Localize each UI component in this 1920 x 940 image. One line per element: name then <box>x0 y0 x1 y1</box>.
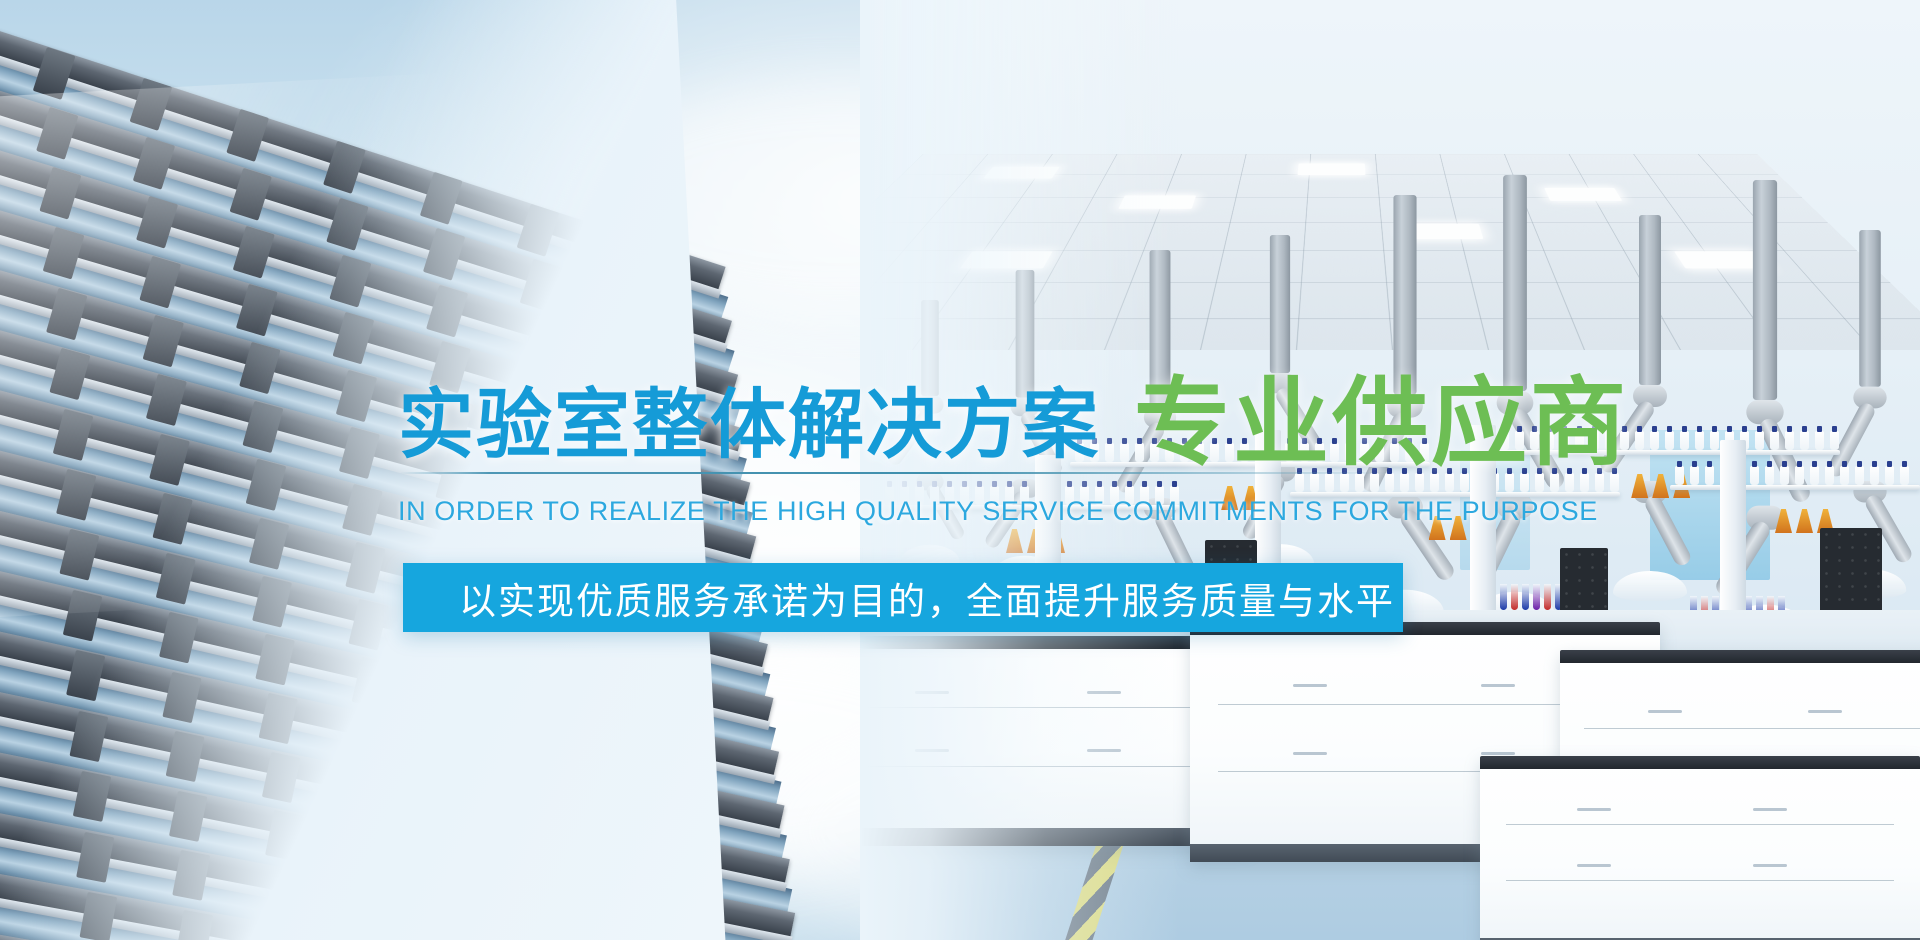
headline-accent: 专业供应商 <box>1134 376 1629 472</box>
slogan-bar: 以实现优质服务承诺为目的，全面提升服务质量与水平 <box>403 563 1403 632</box>
hero-banner: 实验室整体解决方案 专业供应商 IN ORDER TO REALIZE THE … <box>0 0 1920 940</box>
slogan-text: 以实现优质服务承诺为目的，全面提升服务质量与水平 <box>459 571 1395 625</box>
banner-copy: 实验室整体解决方案 专业供应商 IN ORDER TO REALIZE THE … <box>0 0 1920 940</box>
headline-primary: 实验室整体解决方案 <box>398 388 1100 464</box>
headline-divider <box>400 472 1390 474</box>
headline: 实验室整体解决方案 专业供应商 <box>398 368 1629 464</box>
english-subtitle: IN ORDER TO REALIZE THE HIGH QUALITY SER… <box>398 496 1598 527</box>
